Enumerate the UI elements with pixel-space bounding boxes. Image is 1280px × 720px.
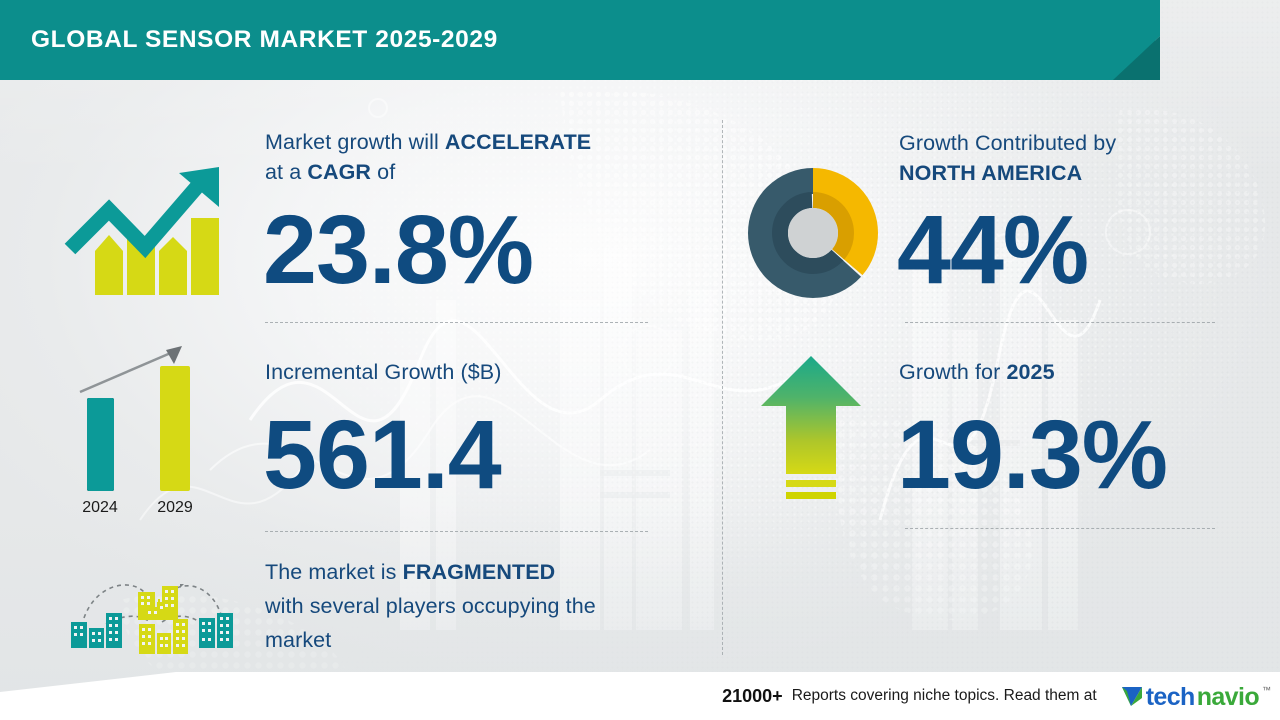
growth-2025-label-year: 2025 (1006, 360, 1054, 384)
bar-label-2024: 2024 (82, 499, 118, 516)
stat-cagr-value: 23.8% (263, 200, 533, 300)
stat-cagr-label-line2: at a CAGR of (265, 157, 395, 187)
stat-growth-2025-label: Growth for 2025 (899, 357, 1055, 387)
growth-arrow-bars-icon (62, 155, 232, 305)
technavio-logo-tech: tech (1146, 683, 1195, 712)
column-divider (722, 120, 723, 655)
stat-north-america-label-line1: Growth Contributed by (899, 128, 1116, 158)
left-divider-1 (265, 322, 648, 323)
technavio-logo-trademark: ™ (1262, 685, 1271, 695)
fragmentation-label-text-1: The market is (265, 560, 403, 584)
footer-text: Reports covering niche topics. Read them… (792, 687, 1097, 705)
cagr-label-text-1: Market growth will (265, 130, 445, 154)
up-arrow-icon (756, 352, 866, 512)
stat-fragmentation-label-line2: with several players occupying the (265, 591, 596, 621)
cagr-label-text-2: at a (265, 160, 307, 184)
cagr-label-accelerate: ACCELERATE (445, 130, 591, 154)
infographic-page: GLOBAL SENSOR MARKET 2025-2029 2024 2029 (0, 0, 1280, 720)
technavio-logo[interactable]: technavio™ (1120, 681, 1270, 712)
bar-label-2029: 2029 (157, 499, 193, 516)
footer-report-count: 21000+ (722, 686, 783, 707)
technavio-logo-navio: navio (1197, 683, 1259, 712)
right-divider-1 (905, 322, 1215, 323)
page-title: GLOBAL SENSOR MARKET 2025-2029 (31, 0, 498, 80)
growth-2025-label-text: Growth for (899, 360, 1006, 384)
right-divider-2 (905, 528, 1215, 529)
header-fold-corner (1113, 0, 1233, 82)
donut-chart-icon (748, 168, 878, 298)
fragmentation-label-fragmented: FRAGMENTED (403, 560, 556, 584)
stat-cagr-label-line1: Market growth will ACCELERATE (265, 127, 591, 157)
cagr-label-text-3: of (371, 160, 395, 184)
stat-growth-2025-value: 19.3% (897, 405, 1167, 505)
technavio-arrow-icon (1120, 684, 1144, 708)
stat-fragmentation-label-line1: The market is FRAGMENTED (265, 557, 555, 587)
stat-incremental-label: Incremental Growth ($B) (265, 357, 502, 387)
bar-2029 (160, 366, 190, 491)
stat-north-america-label-line2: NORTH AMERICA (899, 158, 1082, 188)
footer-content: 21000+ Reports covering niche topics. Re… (650, 672, 1280, 720)
cagr-label-cagr: CAGR (307, 160, 371, 184)
donut-center (788, 208, 838, 258)
stat-incremental-value: 561.4 (263, 405, 501, 505)
left-divider-2 (265, 531, 648, 532)
stat-north-america-value: 44% (897, 200, 1088, 300)
stat-fragmentation-label-line3: market (265, 625, 331, 655)
fragmented-buildings-icon (62, 562, 252, 662)
two-bar-comparison-icon: 2024 2029 (70, 330, 220, 520)
